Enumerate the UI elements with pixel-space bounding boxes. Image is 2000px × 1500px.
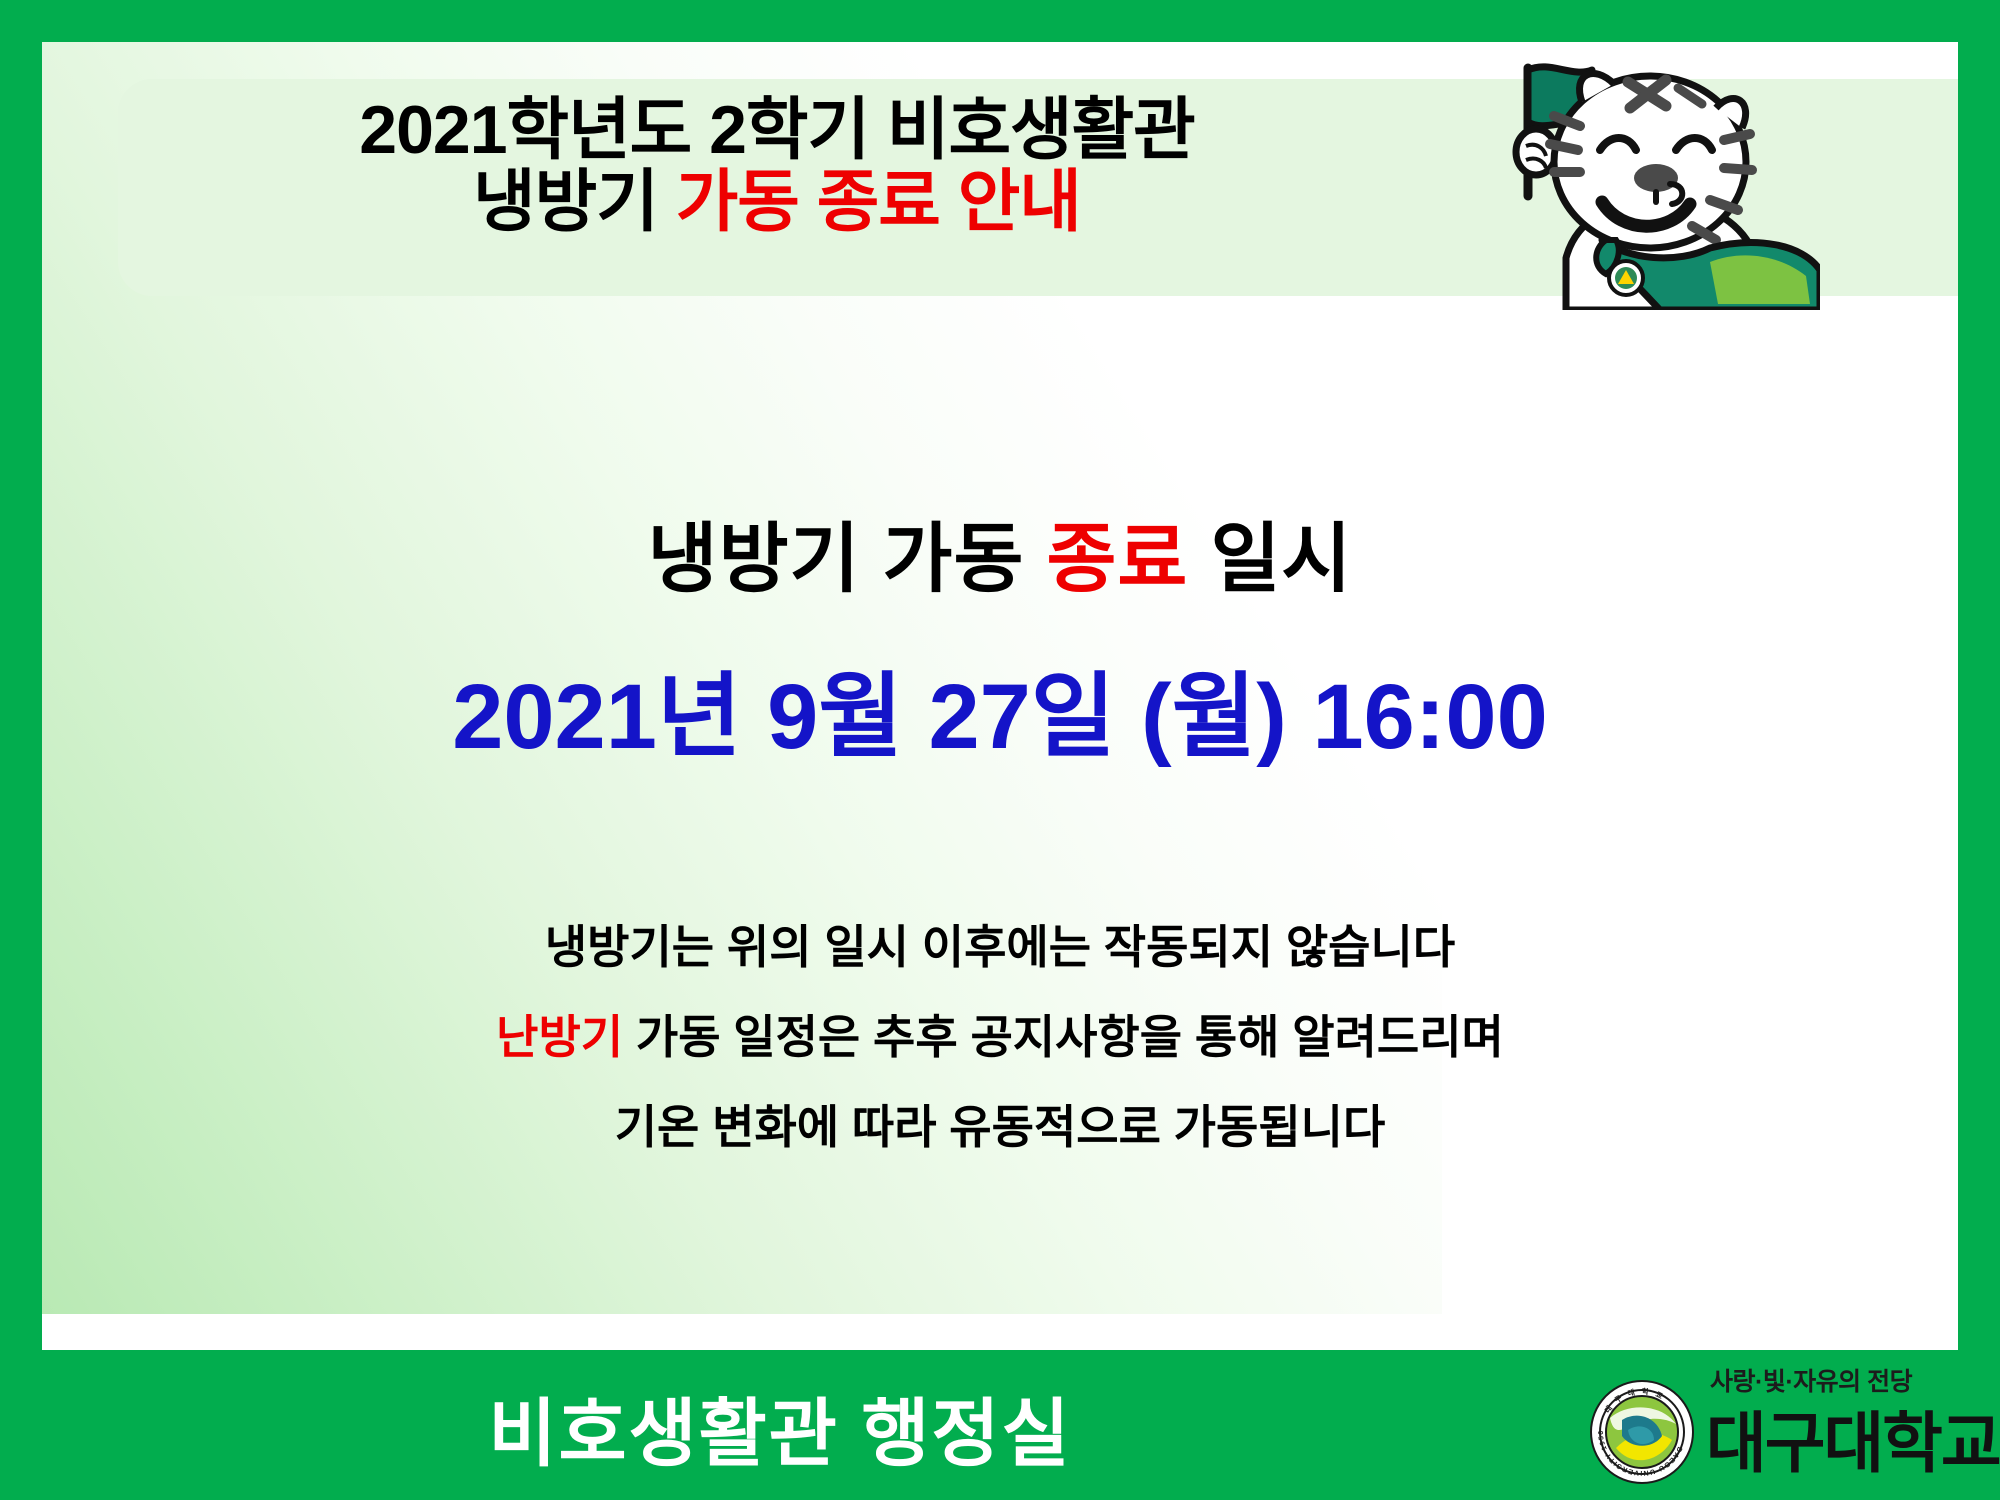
page-title: 2021학년도 2학기 비호생활관 냉방기 가동 종료 안내 bbox=[122, 94, 1432, 238]
brand-name: 대구대학교 bbox=[1706, 1390, 2000, 1486]
headline: 냉방기 가동 종료 일시 bbox=[42, 497, 1958, 607]
headline-part-1: 냉방기 가동 bbox=[648, 517, 1047, 602]
note-2-black: 가동 일정은 추후 공지사항을 통해 알려드리며 bbox=[623, 1011, 1504, 1063]
university-brand: 대 구 대 학 교 DAEGU UNIVERSITY 1956 사랑·빛·자유의… bbox=[1588, 1356, 1988, 1496]
daegu-university-seal-icon: 대 구 대 학 교 DAEGU UNIVERSITY 1956 bbox=[1588, 1378, 1696, 1486]
notes-block: 냉방기는 위의 일시 이후에는 작동되지 않습니다 난방기 가동 일정은 추후 … bbox=[42, 902, 1958, 1172]
note-1-black: 냉방기는 위의 일시 이후에는 작동되지 않습니다 bbox=[545, 921, 1455, 973]
note-3-black: 기온 변화에 따라 유동적으로 가동됩니다 bbox=[615, 1101, 1386, 1153]
title-line-1: 2021학년도 2학기 비호생활관 bbox=[122, 94, 1432, 166]
title-line-2-red: 가동 종료 안내 bbox=[676, 164, 1081, 240]
note-line-1: 냉방기는 위의 일시 이후에는 작동되지 않습니다 bbox=[42, 902, 1958, 992]
footer-office-name: 비호생활관 행정실 bbox=[0, 1374, 1560, 1481]
title-line-2-black: 냉방기 bbox=[473, 164, 676, 240]
note-line-3: 기온 변화에 따라 유동적으로 가동됩니다 bbox=[42, 1082, 1958, 1172]
content-card: 2021학년도 2학기 비호생활관 냉방기 가동 종료 안내 bbox=[42, 42, 1958, 1350]
headline-part-2: 일시 bbox=[1188, 517, 1352, 602]
title-line-2: 냉방기 가동 종료 안내 bbox=[122, 166, 1432, 238]
footer-bar: 비호생활관 행정실 bbox=[0, 1350, 2000, 1500]
shutdown-datetime: 2021년 9월 27일 (월) 16:00 bbox=[42, 642, 1958, 775]
note-line-2: 난방기 가동 일정은 추후 공지사항을 통해 알려드리며 bbox=[42, 992, 1958, 1082]
poster-root: 2021학년도 2학기 비호생활관 냉방기 가동 종료 안내 bbox=[0, 0, 2000, 1500]
note-2-red: 난방기 bbox=[496, 1011, 623, 1063]
headline-red-word: 종료 bbox=[1047, 517, 1189, 602]
